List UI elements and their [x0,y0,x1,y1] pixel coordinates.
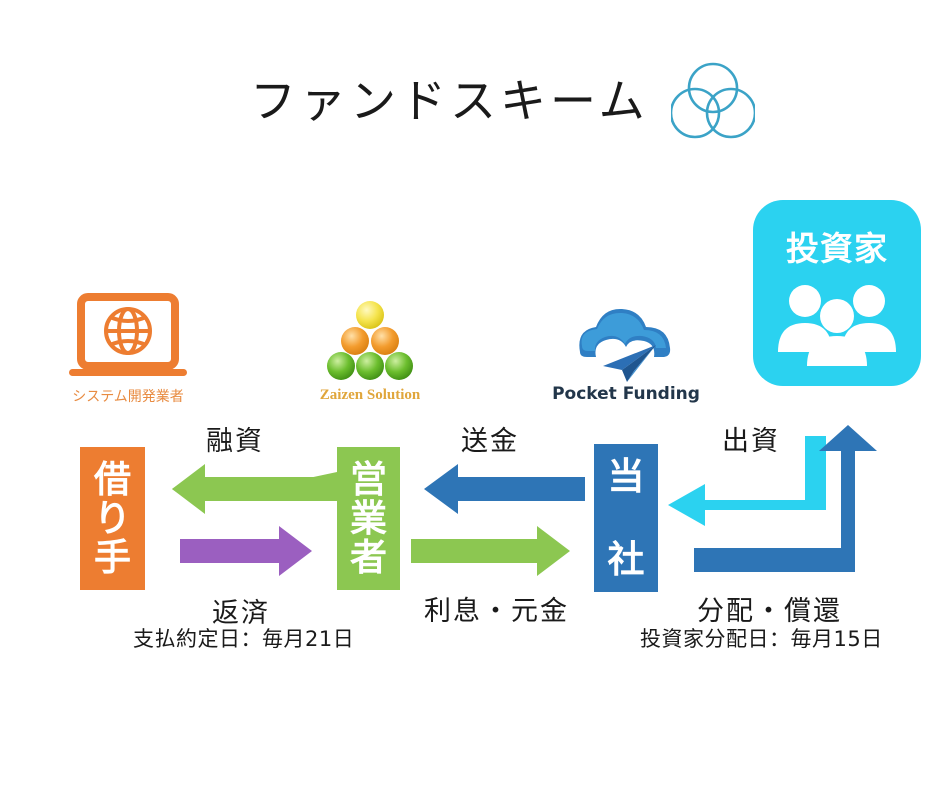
entity-char: 者 [350,538,387,577]
cloud-paper-plane-icon [570,300,682,382]
arrow-hensai [180,526,312,576]
entity-box-borrower: 借 り 手 [80,447,145,590]
arrow-yuushi-shape [172,464,337,514]
investor-card: 投資家 [753,200,921,386]
three-overlapping-circles-icon [671,62,755,140]
arrow-sokin [424,464,585,514]
page-title-text: ファンドスキーム [250,78,649,124]
flow-label-shusshi: 出資 [722,419,780,458]
note-investor-distribution: 投資家分配日：毎月15日 [640,623,883,653]
partner-system-developer: システム開発業者 [48,292,208,406]
entity-char: 業 [350,499,387,538]
partner-caption: Pocket Funding [552,384,700,404]
entity-char: り [94,499,131,538]
three-people-icon [771,282,903,366]
note-payment-due: 支払約定日：毎月21日 [133,623,354,653]
flow-label-sokin: 送金 [461,419,519,458]
entity-char: 手 [94,538,131,577]
flow-label-yuushi: 融資 [206,419,264,458]
fund-scheme-diagram: ファンドスキーム システム開発業者 [0,0,945,790]
entity-char: 社 [608,540,645,579]
partner-caption: システム開発業者 [72,386,184,406]
sphere-pyramid-logo-icon [314,300,426,386]
laptop-globe-icon [64,292,192,384]
flow-label-risoku: 利息・元金 [424,589,569,628]
partner-caption: Zaizen Solution [320,387,420,404]
page-title: ファンドスキーム [250,62,755,140]
arrow-yuushi [172,466,337,512]
partner-zaizen-solution: Zaizen Solution [306,300,434,404]
entity-box-operator: 営 業 者 [337,447,400,590]
partner-pocket-funding: Pocket Funding [560,300,692,404]
entity-char: 借 [94,460,131,499]
entity-box-company: 当 社 [594,444,658,592]
entity-char: 当 [608,457,645,496]
entity-char: 営 [350,460,387,499]
investor-label: 投資家 [753,222,921,270]
arrow-risoku [411,526,570,576]
